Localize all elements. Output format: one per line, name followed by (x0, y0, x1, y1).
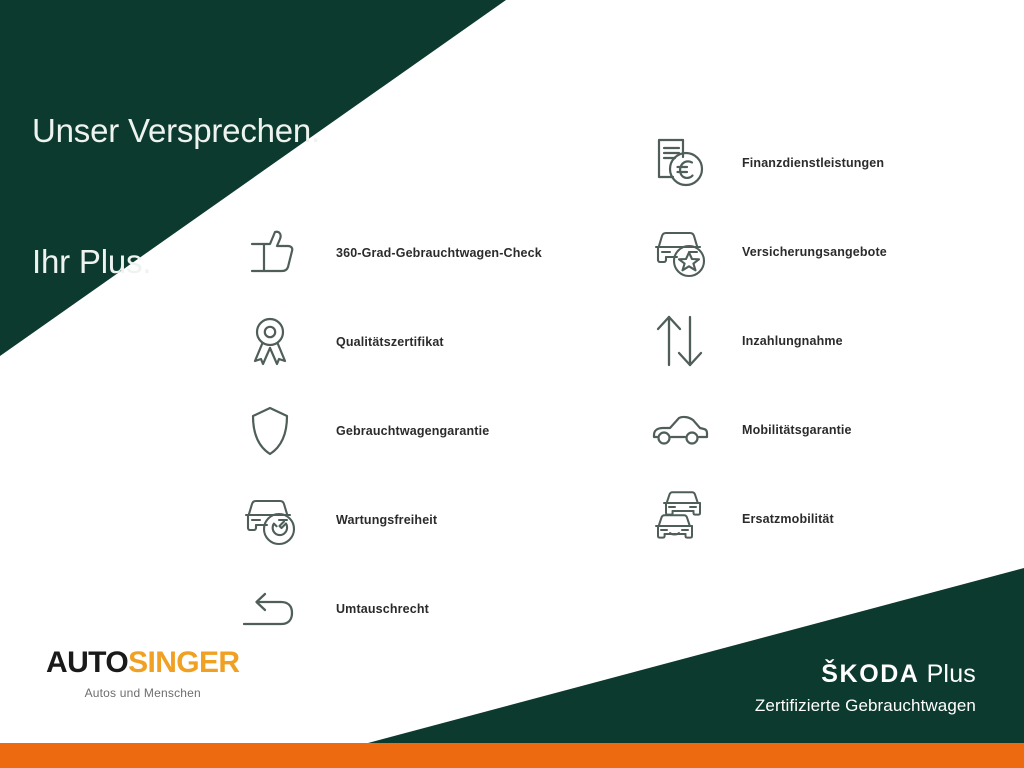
benefit-label: Qualitätszertifikat (336, 335, 444, 349)
benefit-item: Finanzdienstleistungen (648, 118, 887, 207)
dealer-name-part2: SINGER (128, 646, 239, 679)
benefit-item: Mobilitätsgarantie (648, 385, 887, 474)
shield-icon (238, 399, 302, 463)
benefit-label: Gebrauchtwagengarantie (336, 424, 489, 438)
skoda-brand-name: ŠKODA (821, 660, 919, 688)
benefit-item: Versicherungsangebote (648, 207, 887, 296)
two-cars-icon (648, 487, 712, 551)
benefit-label: Finanzdienstleistungen (742, 156, 884, 170)
benefit-label: Ersatzmobilität (742, 512, 834, 526)
benefit-label: 360-Grad-Gebrauchtwagen-Check (336, 246, 542, 260)
benefit-label: Umtauschrecht (336, 602, 429, 616)
dealer-tagline: Autos und Menschen (46, 686, 239, 700)
benefit-label: Inzahlungnahme (742, 334, 843, 348)
skoda-wordmark: ŠKODAPlus (755, 662, 976, 687)
benefit-item: Qualitätszertifikat (238, 297, 542, 386)
return-arrow-icon (238, 577, 302, 641)
benefit-item: Gebrauchtwagengarantie (238, 386, 542, 475)
benefits-left-column: 360-Grad-Gebrauchtwagen-Check Qualitätsz… (238, 208, 542, 653)
up-down-arrows-icon (648, 309, 712, 373)
benefit-label: Wartungsfreiheit (336, 513, 437, 527)
car-side-icon (648, 398, 712, 462)
benefits-right-column: Finanzdienstleistungen Versicherungsange… (648, 118, 887, 563)
headline-line-1: Unser Versprechen. (32, 109, 320, 153)
dealer-name-part1: AUTO (46, 646, 128, 679)
document-euro-icon (648, 131, 712, 195)
benefit-item: Ersatzmobilität (648, 474, 887, 563)
benefit-item: Umtauschrecht (238, 564, 542, 653)
skoda-plus-word: Plus (927, 660, 976, 688)
benefit-item: 360-Grad-Gebrauchtwagen-Check (238, 208, 542, 297)
car-wrench-icon (238, 488, 302, 552)
skoda-subtitle: Zertifizierte Gebrauchtwagen (755, 696, 976, 716)
benefit-label: Versicherungsangebote (742, 245, 887, 259)
promo-banner: Unser Versprechen. Ihr Plus. 360-Grad-Ge… (0, 0, 1024, 768)
dealer-logo: AUTOSINGER Autos und Menschen (46, 648, 239, 700)
award-ribbon-icon (238, 310, 302, 374)
benefit-label: Mobilitätsgarantie (742, 423, 852, 437)
orange-footer-bar (0, 743, 1024, 768)
car-star-icon (648, 220, 712, 284)
benefit-item: Wartungsfreiheit (238, 475, 542, 564)
dealer-wordmark: AUTOSINGER (46, 648, 239, 678)
benefit-item: Inzahlungnahme (648, 296, 887, 385)
thumbs-up-icon (238, 221, 302, 285)
skoda-plus-logo: ŠKODAPlus Zertifizierte Gebrauchtwagen (755, 662, 976, 716)
